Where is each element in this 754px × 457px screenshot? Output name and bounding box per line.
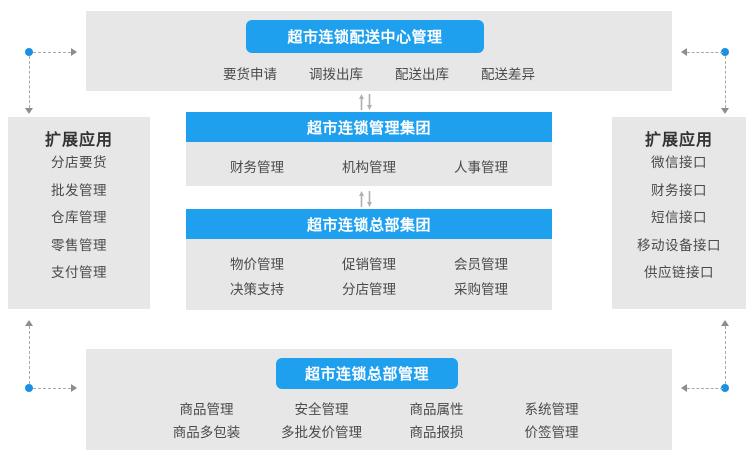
sidebar-item-payment[interactable]: 支付管理 bbox=[51, 267, 107, 281]
headquarters-group-row: 决策支持 分店管理 采购管理 bbox=[186, 278, 552, 298]
menu-item[interactable]: 多批发价管理 bbox=[264, 422, 379, 445]
management-group-panel: 超市连锁管理集团 财务管理 机构管理 人事管理 bbox=[186, 112, 552, 186]
menu-item[interactable]: 会员管理 bbox=[454, 253, 508, 273]
connector-arrow-left bbox=[681, 48, 687, 56]
connector-line-top-left-h bbox=[33, 52, 71, 53]
sidebar-item-warehouse[interactable]: 仓库管理 bbox=[51, 212, 107, 226]
connector-line-top-right-h bbox=[687, 52, 723, 53]
connector-dot-top-left bbox=[25, 48, 33, 56]
connector-arrow-down bbox=[25, 108, 33, 114]
menu-item[interactable]: 财务管理 bbox=[230, 156, 284, 176]
connector-dot-bottom-left bbox=[25, 384, 33, 392]
headquarters-group-panel: 超市连锁总部集团 物价管理 促销管理 会员管理 决策支持 分店管理 采购管理 bbox=[186, 209, 552, 310]
bottom-column: 商品管理 商品多包装 bbox=[149, 399, 264, 445]
connector-line-top-right-v bbox=[725, 56, 726, 108]
right-extension-heading: 扩展应用 bbox=[645, 126, 713, 150]
menu-item[interactable]: 商品多包装 bbox=[149, 422, 264, 445]
connector-line-bottom-left-h bbox=[33, 388, 71, 389]
menu-item[interactable]: 促销管理 bbox=[342, 253, 396, 273]
management-group-row: 财务管理 机构管理 人事管理 bbox=[186, 156, 552, 176]
bottom-column: 商品属性 商品报损 bbox=[379, 399, 494, 445]
menu-item[interactable]: 要货申请 bbox=[223, 63, 277, 83]
connector-line-bottom-left-v bbox=[29, 326, 30, 384]
menu-item[interactable]: 配送出库 bbox=[395, 63, 449, 83]
sidebar-item-wechat-api[interactable]: 微信接口 bbox=[651, 157, 707, 171]
connector-line-top-left-v bbox=[29, 56, 30, 108]
connector-arrow-down bbox=[721, 108, 729, 114]
headquarters-management-panel: 超市连锁总部管理 商品管理 商品多包装 安全管理 多批发价管理 商品属性 商品报… bbox=[86, 349, 672, 450]
management-group-body: 财务管理 机构管理 人事管理 bbox=[186, 142, 552, 190]
sidebar-item-sms-api[interactable]: 短信接口 bbox=[651, 212, 707, 226]
menu-item[interactable]: 安全管理 bbox=[264, 399, 379, 422]
left-extension-heading: 扩展应用 bbox=[45, 126, 113, 150]
sidebar-item-wholesale[interactable]: 批发管理 bbox=[51, 185, 107, 199]
menu-item[interactable]: 系统管理 bbox=[494, 399, 609, 422]
headquarters-group-body: 物价管理 促销管理 会员管理 决策支持 分店管理 采购管理 bbox=[186, 239, 552, 312]
bottom-column: 安全管理 多批发价管理 bbox=[264, 399, 379, 445]
bottom-column: 系统管理 价签管理 bbox=[494, 399, 609, 445]
distribution-center-menu: 要货申请 调拨出库 配送出库 配送差异 bbox=[86, 63, 672, 83]
headquarters-group-row: 物价管理 促销管理 会员管理 bbox=[186, 253, 552, 273]
menu-item[interactable]: 商品管理 bbox=[149, 399, 264, 422]
sidebar-item-branch-request[interactable]: 分店要货 bbox=[51, 157, 107, 171]
sidebar-item-supply-chain-api[interactable]: 供应链接口 bbox=[644, 267, 714, 281]
sidebar-item-retail[interactable]: 零售管理 bbox=[51, 240, 107, 254]
connector-line-bottom-right-h bbox=[687, 388, 723, 389]
left-extension-panel: 扩展应用 分店要货 批发管理 仓库管理 零售管理 支付管理 bbox=[8, 117, 150, 309]
menu-item[interactable]: 机构管理 bbox=[342, 156, 396, 176]
menu-item[interactable]: 商品属性 bbox=[379, 399, 494, 422]
distribution-center-title[interactable]: 超市连锁配送中心管理 bbox=[246, 20, 484, 53]
headquarters-management-title[interactable]: 超市连锁总部管理 bbox=[276, 358, 458, 389]
connector-arrow-right bbox=[71, 384, 77, 392]
distribution-center-panel: 超市连锁配送中心管理 要货申请 调拨出库 配送出库 配送差异 bbox=[86, 11, 672, 91]
bidirectional-arrow-icon bbox=[356, 190, 378, 208]
connector-line-bottom-right-v bbox=[725, 326, 726, 384]
menu-item[interactable]: 配送差异 bbox=[481, 63, 535, 83]
connector-arrow-right bbox=[71, 48, 77, 56]
right-extension-panel: 扩展应用 微信接口 财务接口 短信接口 移动设备接口 供应链接口 bbox=[612, 117, 746, 309]
menu-item[interactable]: 调拨出库 bbox=[309, 63, 363, 83]
diagram-canvas: 超市连锁配送中心管理 要货申请 调拨出库 配送出库 配送差异 扩展应用 分店要货… bbox=[0, 0, 754, 457]
menu-item[interactable]: 采购管理 bbox=[454, 278, 508, 298]
sidebar-item-mobile-device-api[interactable]: 移动设备接口 bbox=[637, 240, 721, 254]
menu-item[interactable]: 商品报损 bbox=[379, 422, 494, 445]
menu-item[interactable]: 分店管理 bbox=[342, 278, 396, 298]
menu-item[interactable]: 人事管理 bbox=[454, 156, 508, 176]
menu-item[interactable]: 决策支持 bbox=[230, 278, 284, 298]
menu-item[interactable]: 价签管理 bbox=[494, 422, 609, 445]
menu-item[interactable]: 物价管理 bbox=[230, 253, 284, 273]
connector-arrow-up bbox=[721, 320, 729, 326]
headquarters-group-title[interactable]: 超市连锁总部集团 bbox=[186, 209, 552, 239]
headquarters-management-grid: 商品管理 商品多包装 安全管理 多批发价管理 商品属性 商品报损 系统管理 价签… bbox=[86, 399, 672, 445]
bidirectional-arrow-icon bbox=[356, 93, 378, 111]
connector-arrow-left bbox=[681, 384, 687, 392]
connector-arrow-up bbox=[25, 320, 33, 326]
management-group-title[interactable]: 超市连锁管理集团 bbox=[186, 112, 552, 142]
sidebar-item-finance-api[interactable]: 财务接口 bbox=[651, 185, 707, 199]
